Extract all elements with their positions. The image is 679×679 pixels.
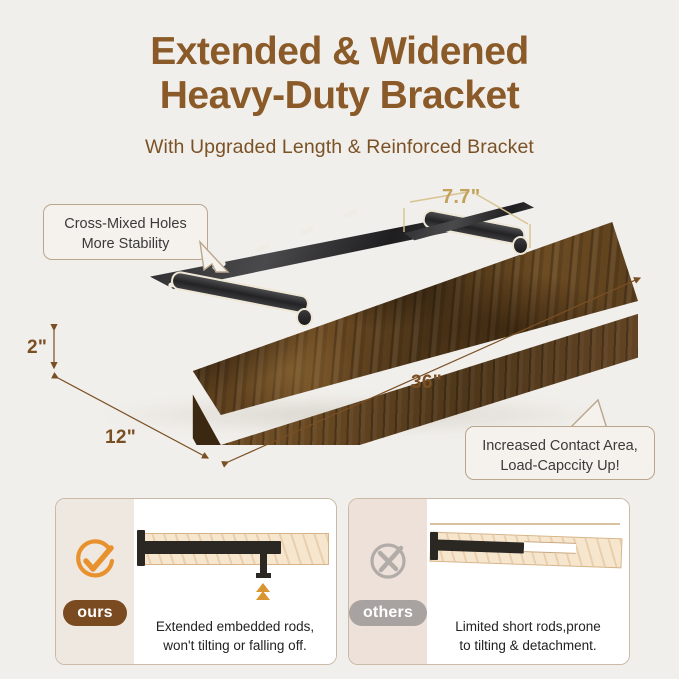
ours-side-column: ours [56,499,134,664]
badge-ours: ours [63,600,126,626]
tilt-guide-line [430,523,620,525]
dimension-depth: 12" [105,427,136,449]
bracket-hole-icon [300,226,315,236]
page-title: Extended & Widened Heavy-Duty Bracket [0,30,679,118]
headline-line-1: Extended & Widened [150,30,529,73]
callout-left-line-2: More Stability [56,234,195,254]
rod-end-cap [512,236,529,255]
ours-caption: Extended embedded rods, won't tilting or… [134,617,336,655]
comparison-panel-others: others Limited short rods,prone to tilti… [348,498,630,665]
subheading: With Upgraded Length & Reinforced Bracke… [0,134,679,160]
others-caption-line-1: Limited short rods,prone [427,617,629,636]
ours-caption-line-1: Extended embedded rods, [134,617,336,636]
comparison-section: ours Extended embedded rods, won't tilti… [0,498,679,668]
ours-diagram: Extended embedded rods, won't tilting or… [134,499,336,664]
callout-right-line-1: Increased Contact Area, [478,436,642,456]
bracket-hole-icon [256,243,271,253]
screw-graphic [260,553,267,575]
callout-right-line-2: Load-Capccity Up! [478,456,642,476]
others-caption-line-2: to tilting & detachment. [427,636,629,655]
hollow-gap-graphic [524,541,576,554]
callout-left-line-1: Cross-Mixed Holes [56,214,195,234]
bracket-hole-icon [344,209,359,219]
check-circle-icon [72,538,118,584]
others-caption: Limited short rods,prone to tilting & de… [427,617,629,655]
dimension-length: 36" [411,372,442,394]
badge-others: others [349,600,427,626]
others-diagram: Limited short rods,prone to tilting & de… [427,499,629,664]
product-infographic: Extended & Widened Heavy-Duty Bracket Wi… [0,0,679,679]
callout-increased-contact-area: Increased Contact Area, Load-Capccity Up… [465,426,655,480]
ours-caption-line-2: won't tilting or falling off. [134,636,336,655]
callout-cross-mixed-holes: Cross-Mixed Holes More Stability [43,204,208,260]
bracket-rod-front [169,270,310,315]
comparison-panel-ours: ours Extended embedded rods, won't tilti… [55,498,337,665]
rod-end-cap [296,308,313,327]
others-side-column: others [349,499,427,664]
headline-line-2: Heavy-Duty Bracket [0,74,679,118]
x-circle-icon [365,538,411,584]
dimension-thickness: 2" [27,337,47,359]
screw-head-graphic [256,573,271,578]
dimension-bracket-arm: 7.7" [442,186,481,209]
load-arrow-icon [256,591,270,600]
